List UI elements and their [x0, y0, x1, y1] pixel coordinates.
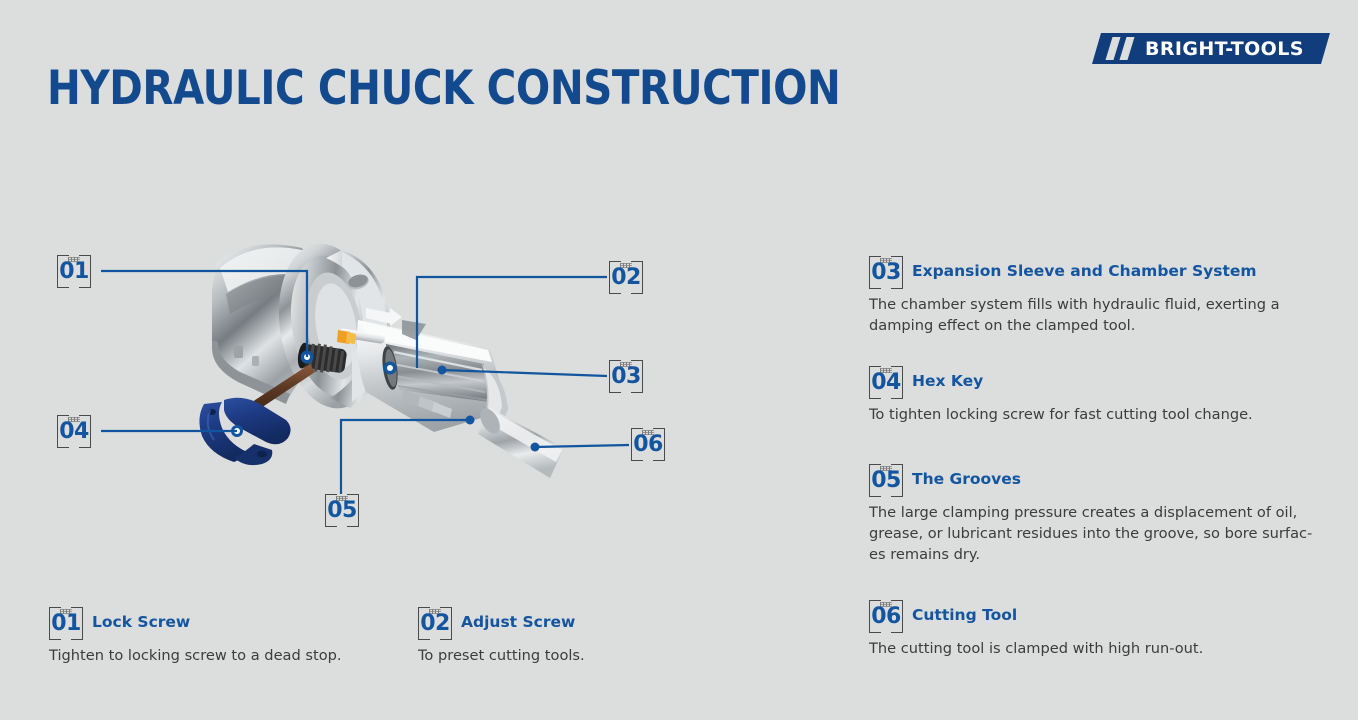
hydraulic-chuck-cutaway-illustration: [190, 222, 620, 488]
logo-text: BRIGHT-TOOLS: [1145, 38, 1304, 60]
info-block-03-body: The chamber system fills with hydraulic …: [869, 294, 1329, 336]
badge-number: 05: [869, 468, 903, 493]
info-block-02-body: To preset cutting tools.: [418, 645, 748, 666]
badge-number: 04: [57, 419, 91, 444]
callout-03[interactable]: 03: [609, 360, 645, 393]
infographic-page: HYDRAULIC CHUCK CONSTRUCTION BRIGHT-TOOL…: [0, 0, 1358, 720]
info-block-02: 02 Adjust Screw To preset cutting tools.: [418, 607, 748, 666]
badge-number: 03: [609, 364, 643, 389]
badge-number: 02: [609, 265, 643, 290]
badge-03: 03: [609, 360, 645, 393]
page-title: HYDRAULIC CHUCK CONSTRUCTION: [47, 62, 840, 116]
info-block-06-body: The cutting tool is clamped with high ru…: [869, 638, 1329, 659]
info-block-05: 05 The Grooves The large clamping pressu…: [869, 464, 1339, 565]
badge-02: 02: [609, 261, 645, 294]
badge-01: 01: [57, 255, 93, 288]
badge-05-inline: 05: [869, 464, 905, 497]
info-block-06: 06 Cutting Tool The cutting tool is clam…: [869, 600, 1329, 659]
badge-number: 02: [418, 611, 452, 636]
info-block-01: 01 Lock Screw Tighten to locking screw t…: [49, 607, 409, 666]
badge-number: 01: [49, 611, 83, 636]
info-block-04-title: Hex Key: [912, 366, 983, 397]
badge-number: 04: [869, 370, 903, 395]
info-block-02-title: Adjust Screw: [461, 607, 575, 638]
badge-06-inline: 06: [869, 600, 905, 633]
info-block-06-title: Cutting Tool: [912, 600, 1017, 631]
badge-01-inline: 01: [49, 607, 85, 640]
callout-02[interactable]: 02: [609, 261, 645, 294]
badge-number: 06: [631, 432, 665, 457]
badge-number: 05: [325, 498, 359, 523]
callout-04[interactable]: 04: [57, 415, 93, 448]
info-block-03-heading: 03 Expansion Sleeve and Chamber System: [869, 256, 1329, 289]
badge-number: 03: [869, 260, 903, 285]
badge-number: 06: [869, 604, 903, 629]
info-block-02-heading: 02 Adjust Screw: [418, 607, 748, 640]
badge-06: 06: [631, 428, 667, 461]
badge-03-inline: 03: [869, 256, 905, 289]
badge-04: 04: [57, 415, 93, 448]
callout-01[interactable]: 01: [57, 255, 93, 288]
info-block-04-body: To tighten locking screw for fast cuttin…: [869, 404, 1329, 425]
info-block-04: 04 Hex Key To tighten locking screw for …: [869, 366, 1329, 425]
info-block-04-heading: 04 Hex Key: [869, 366, 1329, 399]
brand-logo: BRIGHT-TOOLS: [1092, 33, 1330, 64]
callout-06[interactable]: 06: [631, 428, 667, 461]
info-block-05-title: The Grooves: [912, 464, 1021, 495]
info-block-03: 03 Expansion Sleeve and Chamber System T…: [869, 256, 1329, 336]
info-block-05-heading: 05 The Grooves: [869, 464, 1339, 497]
badge-number: 01: [57, 259, 91, 284]
info-block-06-heading: 06 Cutting Tool: [869, 600, 1329, 633]
badge-02-inline: 02: [418, 607, 454, 640]
info-block-01-heading: 01 Lock Screw: [49, 607, 409, 640]
info-block-01-title: Lock Screw: [92, 607, 190, 638]
badge-04-inline: 04: [869, 366, 905, 399]
info-block-05-body: The large clamping pressure creates a di…: [869, 502, 1339, 565]
badge-05: 05: [325, 494, 361, 527]
info-block-01-body: Tighten to locking screw to a dead stop.: [49, 645, 409, 666]
callout-05[interactable]: 05: [325, 494, 361, 527]
info-block-03-title: Expansion Sleeve and Chamber System: [912, 256, 1257, 287]
